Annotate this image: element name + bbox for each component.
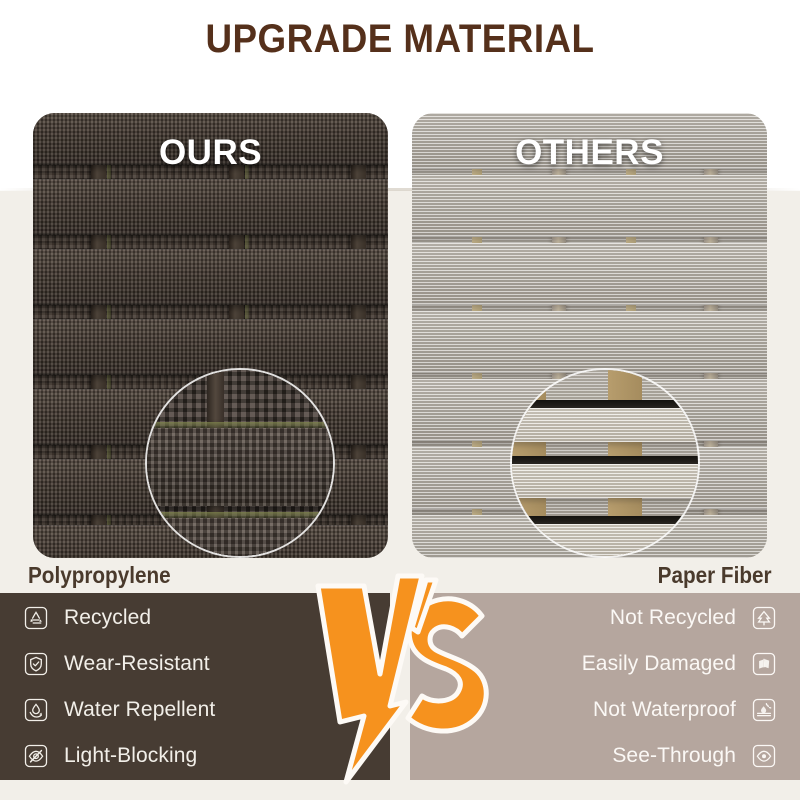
tree-arrow-up-icon [750, 604, 778, 632]
list-item-label: Water Repellent [64, 698, 215, 722]
ours-material-name: Polypropylene [28, 562, 171, 589]
page-title: UPGRADE MATERIAL [32, 17, 768, 62]
list-item-label: Not Waterproof [593, 698, 736, 722]
vs-badge [306, 570, 496, 785]
shield-check-icon [22, 650, 50, 678]
others-magnified-detail [510, 368, 700, 558]
ours-magnified-detail [145, 368, 335, 558]
water-drop-repel-icon [22, 696, 50, 724]
list-item-label: Light-Blocking [64, 744, 197, 768]
water-splash-icon [750, 696, 778, 724]
recycle-icon [22, 604, 50, 632]
others-material-name: Paper Fiber [658, 562, 772, 589]
eye-icon [750, 742, 778, 770]
eye-off-icon [22, 742, 50, 770]
list-item-label: Recycled [64, 606, 151, 630]
others-panel-label: OTHERS [412, 133, 767, 173]
torn-paper-icon [750, 650, 778, 678]
list-item-label: Wear-Resistant [64, 652, 210, 676]
list-item-label: Not Recycled [610, 606, 736, 630]
list-item-label: Easily Damaged [582, 652, 736, 676]
ours-panel-label: OURS [33, 133, 388, 173]
list-item-label: See-Through [612, 744, 736, 768]
